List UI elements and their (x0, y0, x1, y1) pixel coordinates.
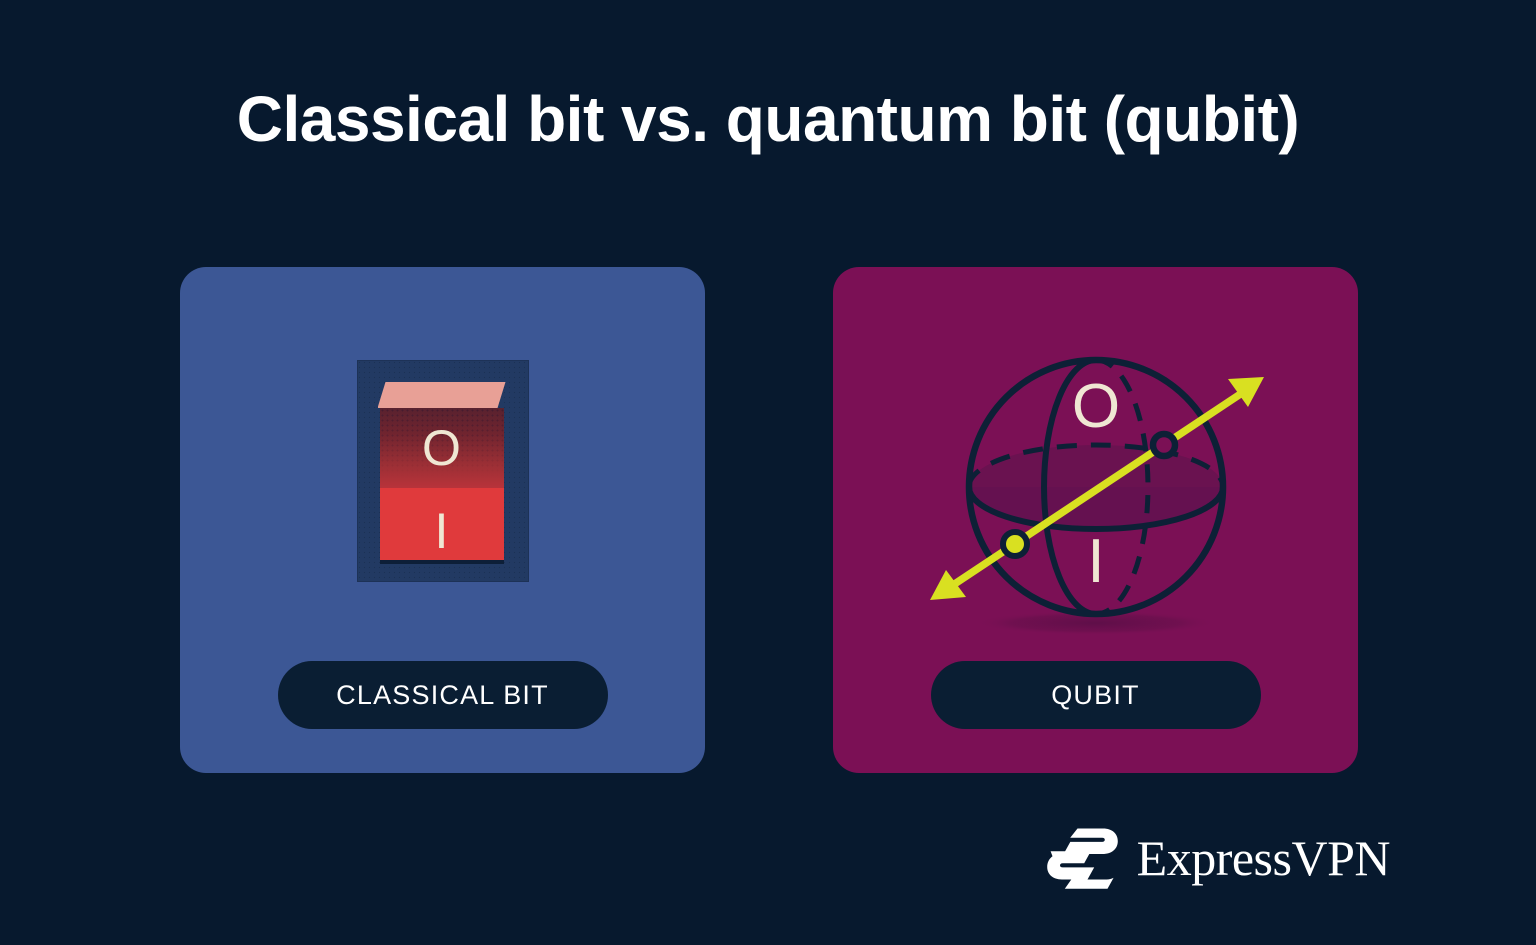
expressvpn-e-icon (1047, 827, 1119, 889)
switch-glyph-off: O (380, 423, 504, 473)
infographic-canvas: Classical bit vs. quantum bit (qubit) O … (0, 0, 1536, 945)
expressvpn-wordmark: ExpressVPN (1137, 833, 1390, 883)
card-qubit: O I QUBIT (833, 267, 1358, 773)
sphere-glyph-zero: O (1071, 372, 1119, 441)
sphere-glyph-one: I (1087, 527, 1104, 596)
card-classical-bit: O I CLASSICAL BIT (180, 267, 705, 773)
switch-face: O I (380, 408, 504, 564)
state-vector-arrowhead-left (930, 570, 966, 600)
switch-bevel (378, 382, 506, 408)
bloch-sphere-illustration: O I (896, 327, 1296, 647)
label-classical-bit: CLASSICAL BIT (278, 661, 608, 729)
expressvpn-logo: ExpressVPN (1047, 827, 1390, 889)
switch-base-shadow (380, 560, 504, 564)
switch-glyph-on: I (380, 506, 504, 556)
state-point-marker (1003, 532, 1027, 556)
bloch-sphere-svg: O I (896, 327, 1296, 647)
label-qubit: QUBIT (931, 661, 1261, 729)
rocker-switch-illustration: O I (357, 360, 529, 582)
superposition-point-marker (1153, 434, 1175, 456)
switch-rocker: O I (380, 382, 504, 564)
page-title: Classical bit vs. quantum bit (qubit) (0, 86, 1536, 153)
